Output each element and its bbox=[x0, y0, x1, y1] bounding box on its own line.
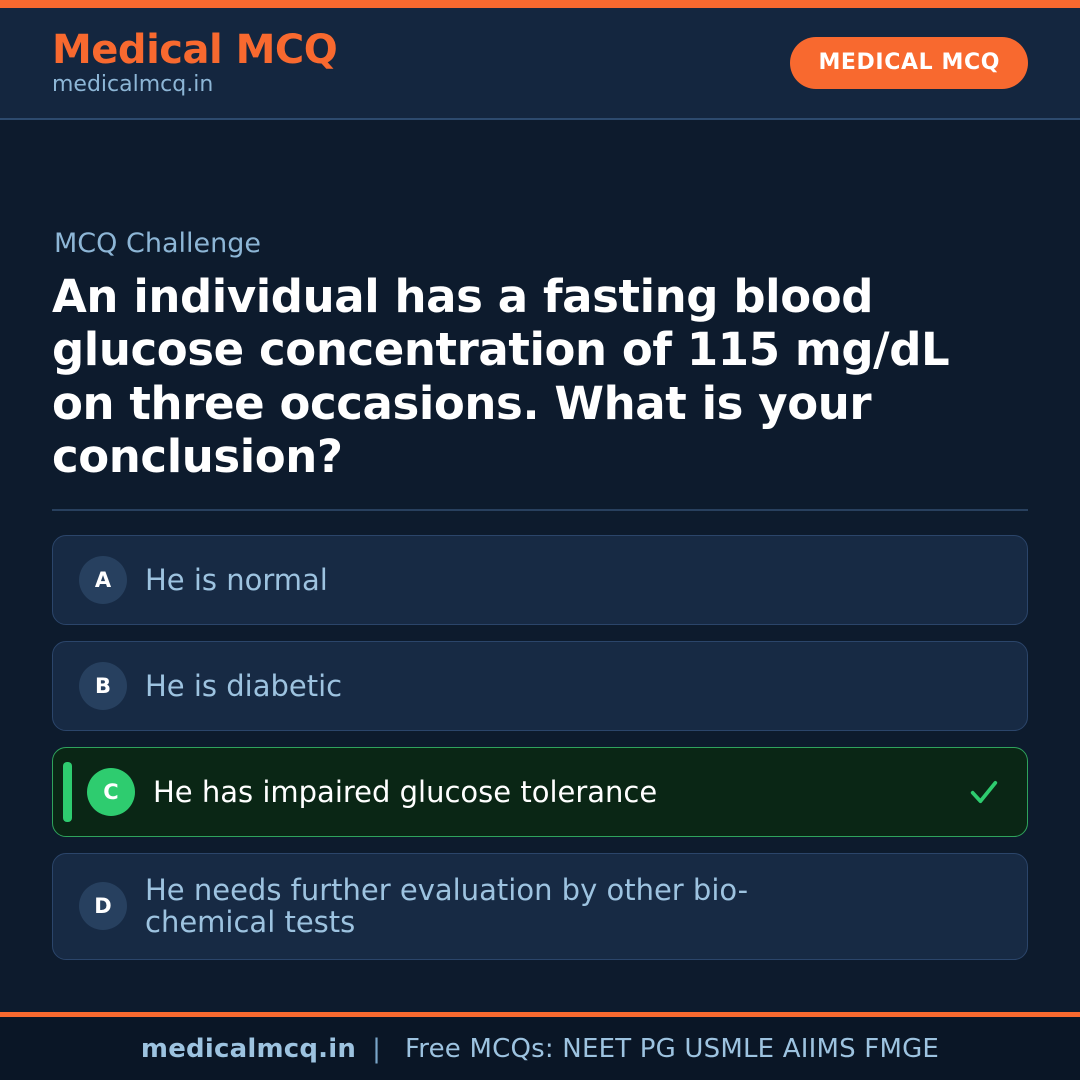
option-d-text: He needs further evaluation by other bio… bbox=[145, 874, 845, 939]
kicker-label: MCQ Challenge bbox=[54, 228, 1028, 260]
option-c-letter: C bbox=[87, 768, 135, 816]
brand-title: Medical MCQ bbox=[52, 29, 337, 71]
header-badge[interactable]: MEDICAL MCQ bbox=[790, 37, 1028, 89]
option-c[interactable]: C He has impaired glucose tolerance bbox=[52, 747, 1028, 837]
footer-text: medicalmcq.in | Free MCQs: NEET PG USMLE… bbox=[141, 1034, 939, 1064]
question-divider bbox=[52, 509, 1028, 511]
option-b[interactable]: B He is diabetic bbox=[52, 641, 1028, 731]
footer-exams: Free MCQs: NEET PG USMLE AIIMS FMGE bbox=[405, 1034, 939, 1064]
option-b-letter: B bbox=[79, 662, 127, 710]
brand-subtitle: medicalmcq.in bbox=[52, 73, 337, 97]
brand: Medical MCQ medicalmcq.in bbox=[52, 29, 337, 97]
check-icon bbox=[967, 775, 1001, 809]
mcq-card: Medical MCQ medicalmcq.in MEDICAL MCQ MC… bbox=[0, 0, 1080, 1080]
question-text: An individual has a fasting blood glucos… bbox=[52, 270, 1012, 482]
option-d[interactable]: D He needs further evaluation by other b… bbox=[52, 853, 1028, 960]
option-b-text: He is diabetic bbox=[145, 670, 1001, 702]
footer-site[interactable]: medicalmcq.in bbox=[141, 1034, 356, 1064]
header: Medical MCQ medicalmcq.in MEDICAL MCQ bbox=[0, 8, 1080, 120]
footer-separator: | bbox=[356, 1034, 397, 1064]
correct-accent-bar bbox=[63, 762, 72, 822]
top-accent-bar bbox=[0, 0, 1080, 8]
options-list: A He is normal B He is diabetic C He has… bbox=[52, 535, 1028, 960]
footer: medicalmcq.in | Free MCQs: NEET PG USMLE… bbox=[0, 1012, 1080, 1080]
option-a[interactable]: A He is normal bbox=[52, 535, 1028, 625]
option-c-text: He has impaired glucose tolerance bbox=[153, 776, 949, 808]
option-d-letter: D bbox=[79, 882, 127, 930]
question-area: MCQ Challenge An individual has a fastin… bbox=[0, 120, 1080, 1012]
option-a-letter: A bbox=[79, 556, 127, 604]
option-a-text: He is normal bbox=[145, 564, 1001, 596]
